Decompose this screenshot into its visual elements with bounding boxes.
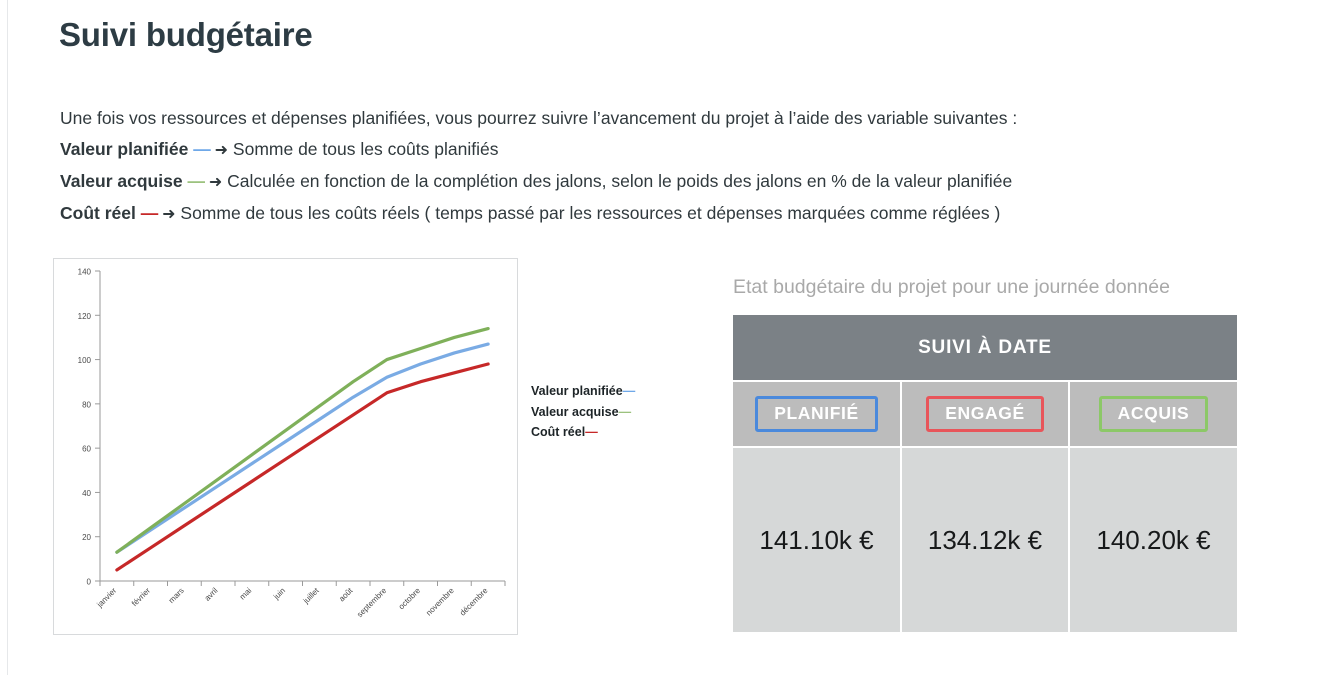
status-badge: ACQUIS [1099, 396, 1209, 431]
legend-dash-red-icon: — [585, 425, 597, 439]
legend-item-cout-reel: Coût réel— [531, 422, 634, 443]
table-main-header: SUIVI À DATE [733, 315, 1237, 381]
column-header-acquis: ACQUIS [1069, 381, 1237, 447]
intro-item-valeur-planifiee: Valeur planifiée — ➜ Somme de tous les c… [60, 134, 1290, 166]
budget-table-caption: Etat budgétaire du projet pour une journ… [733, 276, 1170, 299]
legend-label: Coût réel [531, 425, 585, 439]
svg-text:mai: mai [238, 586, 254, 602]
legend-dash-green-icon: — [619, 405, 631, 419]
line-sample-green-icon: — [187, 171, 204, 191]
budget-summary-table: SUIVI À DATE PLANIFIÉ ENGAGÉ ACQUIS 141.… [733, 315, 1237, 632]
legend-label: Valeur acquise [531, 405, 619, 419]
legend-dash-blue-icon: — [623, 384, 635, 398]
svg-text:mars: mars [167, 586, 186, 605]
svg-text:0: 0 [87, 578, 92, 587]
table-header-row: SUIVI À DATE [733, 315, 1237, 381]
svg-text:juillet: juillet [301, 586, 322, 607]
table-value-row: 141.10k € 134.12k € 140.20k € [733, 447, 1237, 632]
svg-text:80: 80 [82, 400, 91, 409]
svg-text:janvier: janvier [95, 586, 119, 610]
value-planifie: 141.10k € [733, 447, 901, 632]
column-header-engage: ENGAGÉ [901, 381, 1069, 447]
intro-item-term: Valeur acquise [60, 171, 183, 191]
svg-text:juin: juin [271, 586, 287, 602]
svg-text:septembre: septembre [355, 586, 388, 619]
legend-label: Valeur planifiée [531, 384, 623, 398]
column-header-planifie: PLANIFIÉ [733, 381, 901, 447]
svg-text:60: 60 [82, 445, 91, 454]
svg-text:100: 100 [78, 356, 92, 365]
intro-lead: Une fois vos ressources et dépenses plan… [60, 103, 1290, 134]
page-left-rule [7, 0, 8, 675]
arrow-right-icon: ➜ [215, 142, 228, 159]
svg-text:120: 120 [78, 312, 92, 321]
page-title: Suivi budgétaire [59, 16, 313, 54]
status-badge: ENGAGÉ [926, 396, 1043, 431]
intro-item-description: Calculée en fonction de la complétion de… [227, 171, 1012, 191]
svg-text:40: 40 [82, 489, 91, 498]
table-subheader-row: PLANIFIÉ ENGAGÉ ACQUIS [733, 381, 1237, 447]
line-sample-blue-icon: — [193, 139, 210, 159]
line-sample-red-icon: — [141, 203, 158, 223]
svg-text:140: 140 [78, 268, 92, 277]
value-engage: 134.12k € [901, 447, 1069, 632]
chart-canvas: 020406080100120140janvierfévriermarsavri… [54, 259, 517, 634]
budget-line-chart: 020406080100120140janvierfévriermarsavri… [53, 258, 518, 635]
svg-text:décembre: décembre [458, 586, 490, 618]
status-badge: PLANIFIÉ [755, 396, 878, 431]
arrow-right-icon: ➜ [209, 174, 222, 191]
intro-item-term: Coût réel [60, 203, 136, 223]
chart-legend: Valeur planifiée— Valeur acquise— Coût r… [531, 381, 634, 443]
svg-text:20: 20 [82, 533, 91, 542]
intro-item-description: Somme de tous les coûts réels ( temps pa… [180, 203, 1000, 223]
intro-item-description: Somme de tous les coûts planifiés [233, 139, 499, 159]
svg-text:février: février [130, 586, 152, 608]
legend-item-valeur-acquise: Valeur acquise— [531, 402, 634, 423]
intro-item-valeur-acquise: Valeur acquise — ➜ Calculée en fonction … [60, 166, 1290, 198]
intro-item-term: Valeur planifiée [60, 139, 188, 159]
legend-item-valeur-planifiee: Valeur planifiée— [531, 381, 634, 402]
value-acquis: 140.20k € [1069, 447, 1237, 632]
intro-text-block: Une fois vos ressources et dépenses plan… [60, 103, 1290, 230]
svg-text:novembre: novembre [424, 586, 456, 618]
svg-text:octobre: octobre [397, 586, 423, 612]
intro-item-cout-reel: Coût réel — ➜ Somme de tous les coûts ré… [60, 198, 1290, 230]
svg-text:avril: avril [203, 586, 220, 603]
svg-text:août: août [337, 586, 355, 604]
arrow-right-icon: ➜ [162, 206, 175, 223]
